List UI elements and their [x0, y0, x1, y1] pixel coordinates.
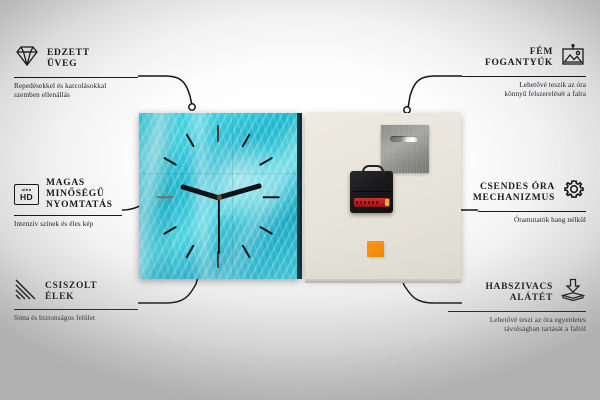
product-image	[139, 113, 461, 279]
ultra-hd-badge-icon: ultra HD	[14, 184, 39, 205]
feature-title: FÉM FOGANTYÚK	[485, 47, 553, 69]
feature-title: HABSZIVACS ALÁTÉT	[485, 282, 553, 304]
metal-hanger-part	[381, 125, 429, 173]
battery-label	[356, 201, 378, 204]
foam-pad-part	[367, 241, 384, 257]
feature-divider	[448, 311, 586, 312]
feature-high-quality-print[interactable]: ultra HD MAGAS MINŐSÉGŰ NYOMTATÁS Intenz…	[14, 178, 122, 229]
feature-description: Lehetővé teszik az óra könnyű felszerelé…	[462, 81, 586, 100]
connector-dot-tempered-glass	[189, 104, 195, 110]
feature-foam-pad[interactable]: HABSZIVACS ALÁTÉT Lehetővé teszi az óra …	[448, 278, 586, 335]
second-hand	[218, 197, 220, 253]
feature-description: Óramutatók hang nélkül	[478, 216, 586, 225]
foam-pad-arrow-icon	[560, 278, 586, 307]
feature-title: CSISZOLT ÉLEK	[45, 281, 97, 303]
back-panel-edge	[305, 279, 461, 283]
clock-mechanism-part	[350, 171, 393, 213]
mechanism-seam	[353, 191, 390, 192]
clock-face	[139, 113, 300, 279]
feature-description: Repedésekkel és karcolásokkal szemben el…	[14, 82, 138, 101]
glass-edge	[297, 113, 302, 279]
hd-badge-hd-label: HD	[20, 193, 33, 202]
feature-description: Lehetővé teszi az óra egyenletes távolsá…	[448, 316, 586, 335]
feature-divider	[14, 77, 138, 78]
feature-title: CSENDES ÓRA MECHANIZMUS	[473, 182, 555, 204]
gear-icon	[562, 178, 586, 207]
diamond-icon	[14, 44, 40, 73]
feature-divider	[462, 76, 586, 77]
clock-hands-hub	[217, 195, 222, 200]
feature-silent-clock-mechanism[interactable]: CSENDES ÓRA MECHANIZMUS Óramutatók hang …	[478, 178, 586, 225]
clock-back-panel	[305, 113, 461, 279]
polished-edges-icon	[14, 278, 38, 305]
feature-title: EDZETT ÜVEG	[47, 48, 90, 70]
feature-divider	[14, 215, 122, 216]
feature-tempered-glass[interactable]: EDZETT ÜVEG Repedésekkel és karcolásokka…	[14, 44, 138, 101]
feature-metal-handles[interactable]: FÉM FOGANTYÚK Lehetővé teszik az óra kön…	[462, 44, 586, 100]
feature-description: Intenzív színek és éles kép	[14, 220, 122, 229]
connector-polished-edges	[138, 277, 198, 303]
connector-tempered-glass	[138, 76, 192, 105]
feature-divider	[478, 211, 586, 212]
feature-title: MAGAS MINŐSÉGŰ NYOMTATÁS	[46, 178, 122, 211]
connector-metal-handles	[408, 76, 462, 108]
mechanism-hook	[362, 165, 384, 176]
feature-description: Sima és biztonságos felület	[14, 314, 138, 323]
print-panel-seam-horizontal	[139, 173, 300, 174]
picture-frame-icon	[560, 44, 586, 72]
feature-divider	[14, 309, 138, 310]
feature-polished-edges[interactable]: CSISZOLT ÉLEK Sima és biztonságos felüle…	[14, 278, 138, 323]
hanger-keyhole-slot	[390, 136, 418, 142]
product-infographic: EDZETT ÜVEG Repedésekkel és karcolásokka…	[0, 0, 600, 400]
